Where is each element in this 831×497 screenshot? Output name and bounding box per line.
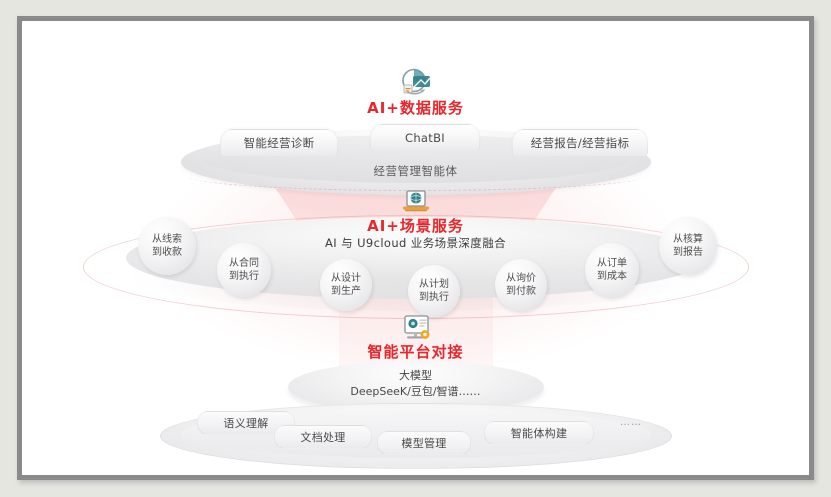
tier-title-data-service: AI+数据服务 bbox=[22, 97, 809, 118]
scenario-bubble-accounting-to-report[interactable]: 从核算 到报告 bbox=[659, 217, 717, 275]
bubble-line-2: 到收款 bbox=[152, 246, 182, 260]
bubble-line-1: 从订单 bbox=[597, 257, 627, 271]
platform-model-line-2: DeepSeeK/豆包/智谱…… bbox=[22, 384, 809, 400]
scenario-bubble-design-to-production[interactable]: 从设计 到生产 bbox=[320, 259, 372, 311]
scenario-bubble-contract-to-execution[interactable]: 从合同 到执行 bbox=[217, 243, 271, 297]
scenario-bubble-order-to-cost[interactable]: 从订单 到成本 bbox=[585, 243, 639, 297]
bubble-line-1: 从询价 bbox=[506, 272, 536, 286]
base-segment-document-processing[interactable]: 文档处理 bbox=[274, 425, 372, 449]
top-center-label: 经营管理智能体 bbox=[22, 163, 809, 179]
scenario-bubble-quote-to-payment[interactable]: 从询价 到付款 bbox=[495, 259, 547, 311]
top-tab-chatbi[interactable]: ChatBI bbox=[370, 124, 480, 151]
platform-disc-label: 大模型 DeepSeeK/豆包/智谱…… bbox=[22, 368, 809, 400]
diagram-canvas: AI+数据服务 智能经营诊断 ChatBI 经营报告/经营指标 经营管理智能体 bbox=[22, 21, 809, 475]
scenario-bubble-lead-to-cash[interactable]: 从线索 到收款 bbox=[138, 217, 196, 275]
data-chart-icon bbox=[399, 67, 433, 97]
slide-frame: AI+数据服务 智能经营诊断 ChatBI 经营报告/经营指标 经营管理智能体 bbox=[17, 16, 814, 480]
bubble-line-2: 到报告 bbox=[673, 246, 703, 260]
outer-frame: AI+数据服务 智能经营诊断 ChatBI 经营报告/经营指标 经营管理智能体 bbox=[0, 0, 831, 497]
bubble-line-2: 到执行 bbox=[419, 291, 449, 305]
top-tab-intelligent-diagnosis[interactable]: 智能经营诊断 bbox=[220, 129, 338, 156]
bubble-line-1: 从核算 bbox=[673, 233, 703, 247]
monitor-gear-icon bbox=[399, 313, 433, 343]
bubble-line-2: 到付款 bbox=[506, 285, 536, 299]
laptop-globe-icon bbox=[399, 187, 433, 217]
bubble-line-1: 从线索 bbox=[152, 233, 182, 247]
bubble-line-1: 从设计 bbox=[331, 272, 361, 286]
base-segment-agent-building[interactable]: 智能体构建 bbox=[484, 421, 594, 445]
bubble-line-1: 从计划 bbox=[419, 278, 449, 292]
tier-title-platform-integration: 智能平台对接 bbox=[22, 341, 809, 362]
base-segment-ellipsis: …… bbox=[602, 411, 660, 433]
bubble-line-1: 从合同 bbox=[229, 257, 259, 271]
scenario-bubble-plan-to-execution[interactable]: 从计划 到执行 bbox=[408, 265, 460, 317]
platform-model-line-1: 大模型 bbox=[22, 368, 809, 384]
base-segment-model-management[interactable]: 模型管理 bbox=[377, 431, 471, 455]
bubble-line-2: 到生产 bbox=[331, 285, 361, 299]
top-tab-report-metrics[interactable]: 经营报告/经营指标 bbox=[512, 129, 648, 156]
bubble-line-2: 到成本 bbox=[597, 270, 627, 284]
bubble-line-2: 到执行 bbox=[229, 270, 259, 284]
